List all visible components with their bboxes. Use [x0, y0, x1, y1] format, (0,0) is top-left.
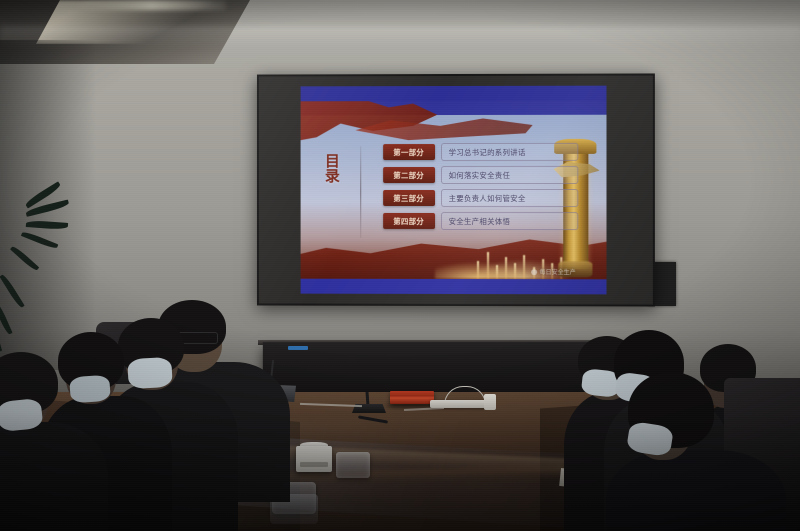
- power-plug: [484, 394, 496, 410]
- list-item: 第一部分 学习总书记的系列讲话: [383, 143, 579, 161]
- watermark-text: 每日安全生产: [540, 267, 576, 276]
- section-title: 主要负责人如何管安全: [441, 189, 579, 207]
- tissue-box[interactable]: [296, 446, 332, 472]
- tissue-box-label: [300, 462, 328, 467]
- face-mask: [69, 375, 111, 404]
- potted-palm: [0, 196, 62, 346]
- water-glass[interactable]: [336, 452, 370, 478]
- section-title: 如何落实安全责任: [441, 166, 579, 184]
- slide-top-band: [301, 86, 607, 101]
- ceiling-cove-highlight: [76, 0, 226, 10]
- face-mask: [127, 357, 173, 389]
- red-books: [390, 391, 434, 404]
- list-item: 第三部分 主要负责人如何管安全: [383, 189, 579, 207]
- ceiling-edge: [0, 26, 800, 48]
- section-badge: 第四部分: [383, 213, 435, 229]
- credenza-indicator-light: [288, 346, 308, 350]
- section-badge: 第三部分: [383, 190, 435, 206]
- presentation-slide: 目录 第一部分 学习总书记的系列讲话 第二部分 如何落实安全责任 第三部分 主要…: [301, 86, 607, 295]
- section-title: 学习总书记的系列讲话: [441, 143, 579, 161]
- slide-watermark: 每日安全生产: [532, 267, 576, 276]
- attendee-torso: [606, 450, 786, 531]
- attendee-torso: [0, 422, 108, 531]
- slide-bottom-band: [301, 279, 607, 294]
- watermark-logo-icon: [532, 269, 538, 275]
- slide-heading: 目录: [324, 153, 339, 183]
- list-item: 第二部分 如何落实安全责任: [383, 166, 579, 184]
- slide-divider: [360, 146, 361, 237]
- section-badge: 第二部分: [383, 167, 435, 183]
- screenshot-root: 目录 第一部分 学习总书记的系列讲话 第二部分 如何落实安全责任 第三部分 主要…: [0, 0, 800, 531]
- section-badge: 第一部分: [383, 144, 435, 160]
- projection-screen[interactable]: 目录 第一部分 学习总书记的系列讲话 第二部分 如何落实安全责任 第三部分 主要…: [257, 73, 655, 306]
- slide-contents-list: 第一部分 学习总书记的系列讲话 第二部分 如何落实安全责任 第三部分 主要负责人…: [383, 143, 579, 230]
- list-item: 第四部分 安全生产相关体悟: [383, 212, 579, 230]
- section-title: 安全生产相关体悟: [441, 212, 579, 230]
